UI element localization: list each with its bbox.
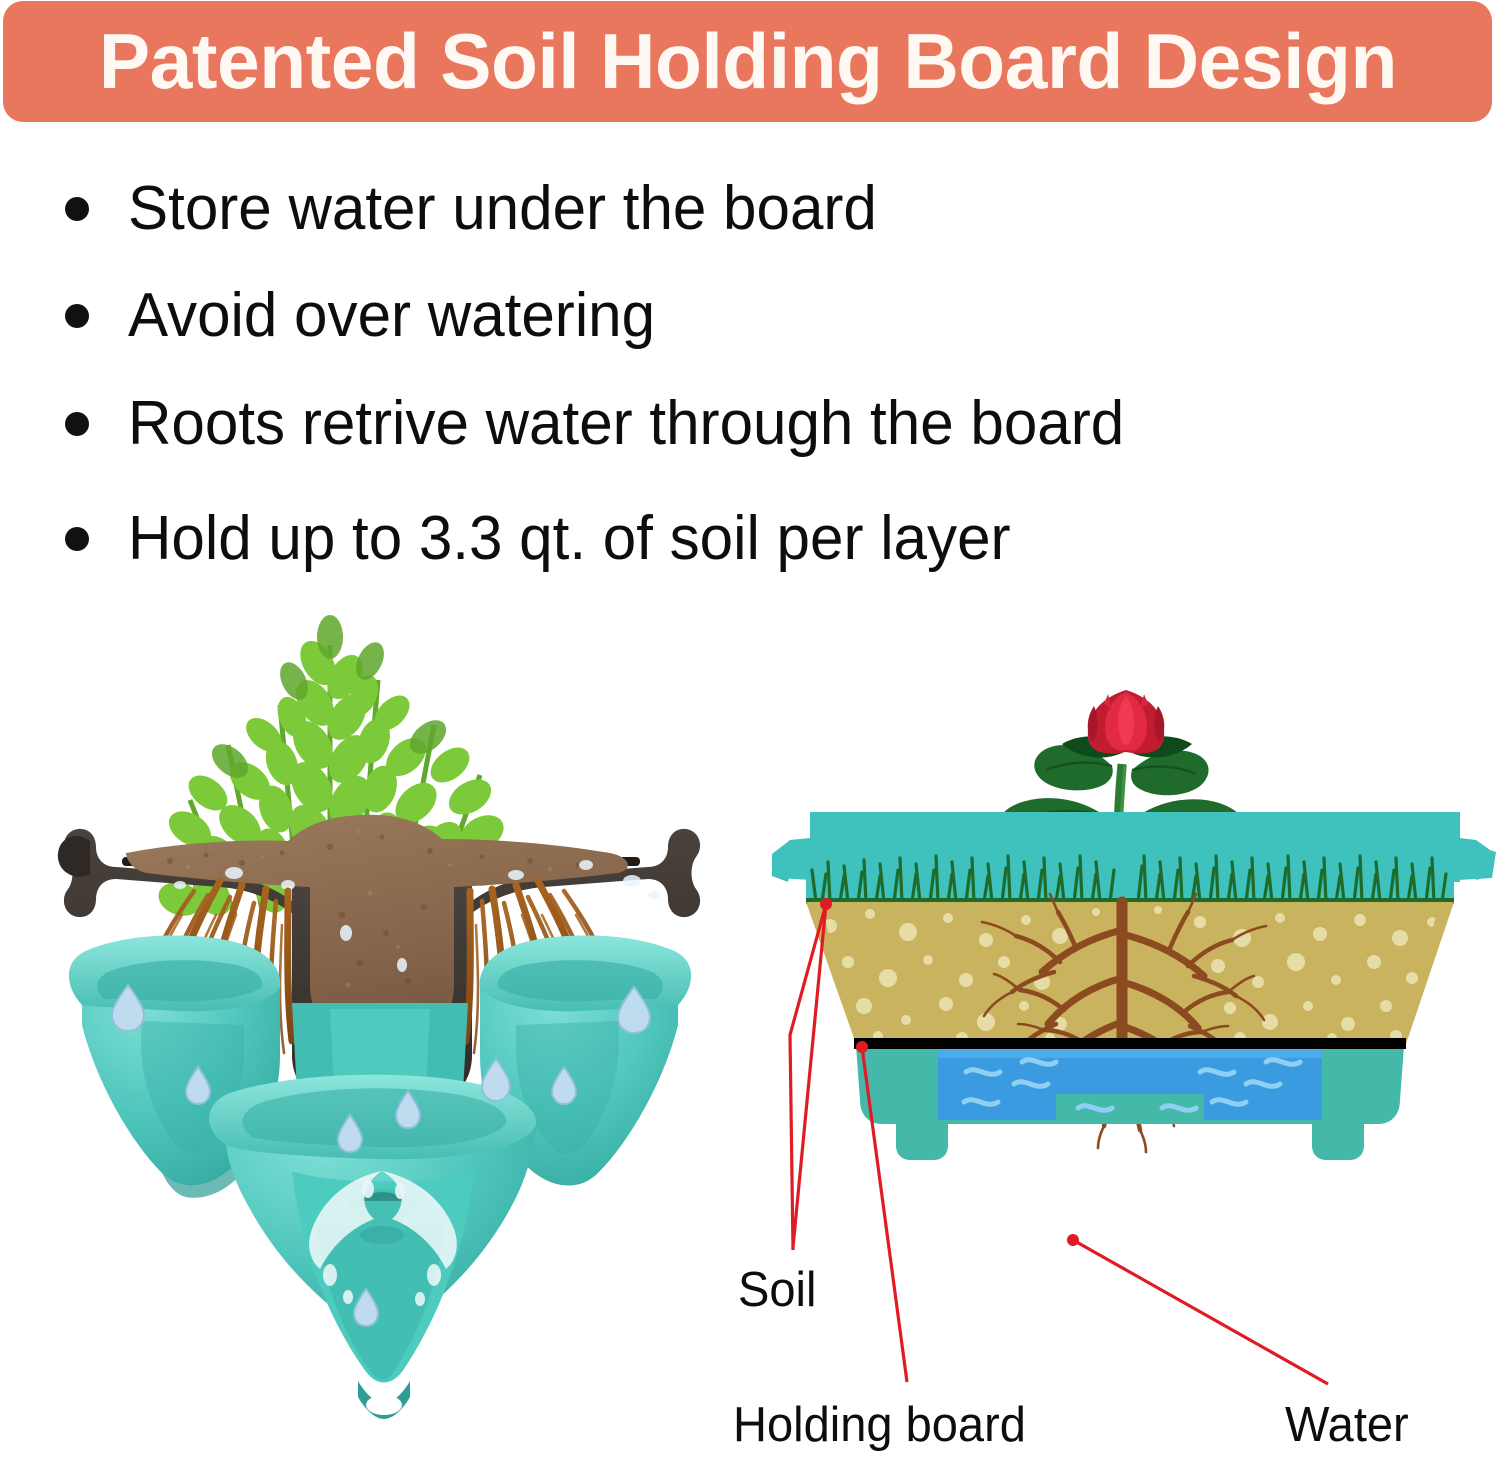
label-holding-board: Holding board [733, 1397, 1026, 1453]
label-soil: Soil [738, 1262, 816, 1318]
soil-leader-line [0, 0, 1500, 1469]
label-water: Water [1285, 1397, 1409, 1453]
